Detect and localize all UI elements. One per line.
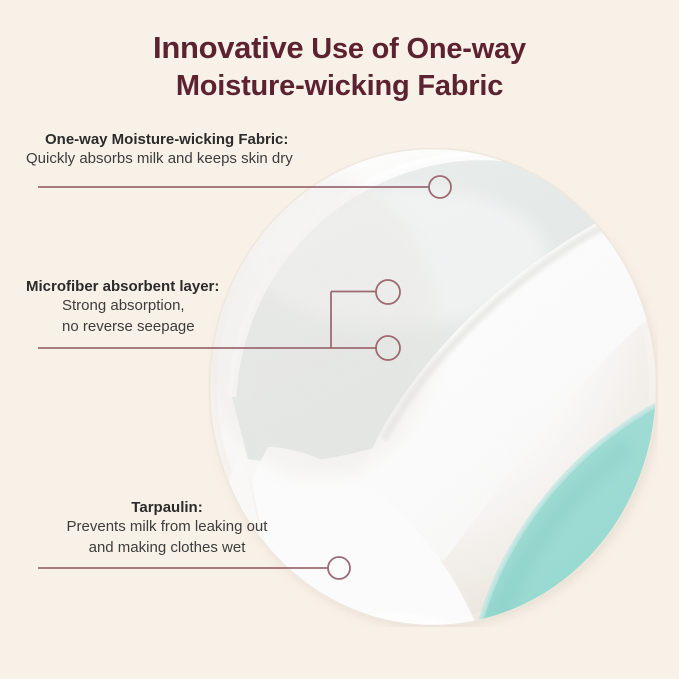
callout-one-way-fabric-title: One-way Moisture-wicking Fabric: <box>45 131 293 148</box>
title-line-2: Moisture-wicking Fabric <box>0 68 679 105</box>
title-emphasis: Innovative <box>153 30 303 65</box>
infographic-page: Innovative Use of One-way Moisture-wicki… <box>0 0 679 679</box>
callout-microfiber-layer-desc-line2: no reverse seepage <box>62 316 219 337</box>
callout-one-way-fabric-desc: Quickly absorbs milk and keeps skin dry <box>26 148 293 169</box>
callout-tarpaulin-desc-line1: Prevents milk from leaking out <box>26 516 308 537</box>
callout-microfiber-layer: Microfiber absorbent layer: Strong absor… <box>26 278 219 338</box>
callout-microfiber-layer-desc-line1: Strong absorption, <box>62 295 219 316</box>
title-line-1: Innovative Use of One-way <box>0 28 679 68</box>
callout-tarpaulin: Tarpaulin: Prevents milk from leaking ou… <box>26 499 308 559</box>
callout-microfiber-layer-title: Microfiber absorbent layer: <box>26 278 219 295</box>
title-line-1-rest: Use of One-way <box>303 33 526 65</box>
callout-one-way-fabric: One-way Moisture-wicking Fabric: Quickly… <box>26 131 293 169</box>
page-title: Innovative Use of One-way Moisture-wicki… <box>0 28 679 105</box>
callout-tarpaulin-title: Tarpaulin: <box>26 499 308 516</box>
callout-tarpaulin-desc-line2: and making clothes wet <box>26 537 308 558</box>
